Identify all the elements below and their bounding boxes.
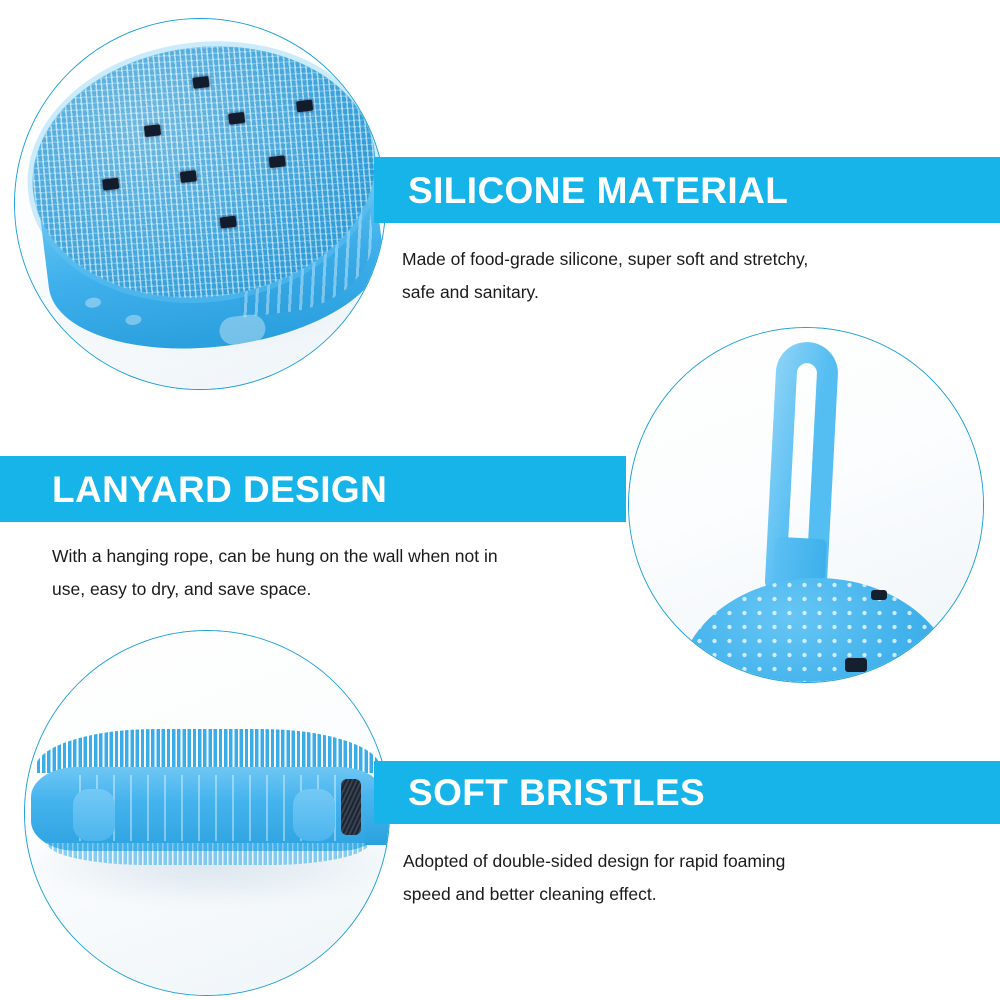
- grip-nub: [293, 789, 335, 841]
- feature-title-silicone-material: SILICONE MATERIAL: [408, 172, 788, 209]
- description-line: With a hanging rope, can be hung on the …: [52, 540, 592, 573]
- dark-detail: [845, 658, 867, 672]
- feature-description-lanyard-design: With a hanging rope, can be hung on the …: [52, 540, 592, 606]
- drainage-hole: [144, 124, 161, 137]
- scrubber-side-body: [31, 767, 385, 851]
- drainage-hole: [269, 155, 286, 168]
- drainage-hole: [228, 112, 245, 125]
- scrubber-pad: [677, 578, 957, 683]
- product-photo-silicone-material: [14, 18, 386, 390]
- description-line: Adopted of double-sided design for rapid…: [403, 845, 923, 878]
- drainage-hole: [180, 170, 197, 183]
- feature-description-silicone-material: Made of food-grade silicone, super soft …: [402, 243, 922, 309]
- description-line: use, easy to dry, and save space.: [52, 573, 592, 606]
- dark-strip-detail: [341, 779, 361, 835]
- dark-detail: [871, 590, 887, 600]
- feature-banner-soft-bristles: SOFT BRISTLES: [374, 761, 1000, 824]
- description-line: speed and better cleaning effect.: [403, 878, 923, 911]
- bottom-bristle-row: [47, 843, 369, 865]
- feature-title-lanyard-design: LANYARD DESIGN: [52, 471, 387, 508]
- bristle-dot-texture: [677, 578, 957, 683]
- grip-nub: [73, 789, 115, 841]
- feature-banner-lanyard-design: LANYARD DESIGN: [0, 456, 626, 522]
- product-feature-infographic: SILICONE MATERIAL Made of food-grade sil…: [0, 0, 1000, 1000]
- product-photo-soft-bristles: [24, 630, 390, 996]
- description-line: safe and sanitary.: [402, 276, 922, 309]
- feature-banner-silicone-material: SILICONE MATERIAL: [374, 157, 1000, 223]
- grip-nub: [218, 313, 267, 346]
- description-line: Made of food-grade silicone, super soft …: [402, 243, 922, 276]
- drainage-hole: [220, 216, 237, 229]
- drainage-hole: [192, 76, 209, 89]
- drainage-hole: [296, 99, 313, 112]
- feature-title-soft-bristles: SOFT BRISTLES: [408, 774, 705, 811]
- brush-body: [18, 27, 386, 367]
- feature-description-soft-bristles: Adopted of double-sided design for rapid…: [403, 845, 923, 911]
- product-photo-lanyard-design: [628, 327, 984, 683]
- drainage-hole: [102, 178, 119, 191]
